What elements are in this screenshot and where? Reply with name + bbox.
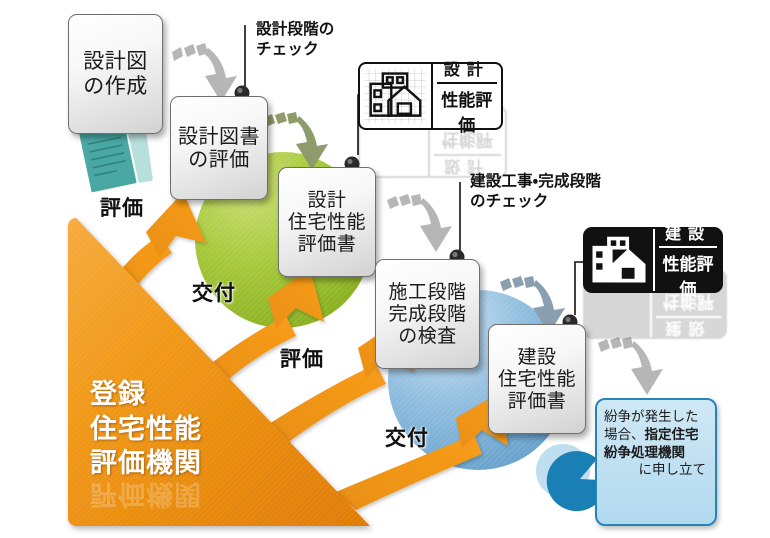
dispute-line-2-plain: 場合、	[604, 427, 645, 443]
arrow-label-issue-1: 交付	[192, 277, 236, 307]
process-box-label: 設計図 の作成	[83, 49, 148, 98]
process-box-design-cert[interactable]: 設計 住宅性能 評価書	[278, 167, 376, 277]
process-box-label: 施工段階 完成段階 の検査	[388, 281, 466, 348]
badge-top-label: 設計	[437, 56, 498, 84]
dispute-line-1: 紛争が発生した	[604, 409, 699, 425]
blueprint-house-icon	[360, 64, 431, 128]
triangle-label-registered-agency: 登録 住宅性能 評価機関	[90, 378, 202, 482]
arrow-label-issue-2: 交付	[385, 422, 429, 452]
process-box-design-drawing[interactable]: 設計図 の作成	[68, 14, 163, 134]
badge-top-label: 建設	[659, 220, 717, 248]
dispute-line-4: に申し立て	[604, 462, 708, 480]
building-house-icon	[585, 229, 653, 291]
badge-bottom-label: 性能評価	[659, 248, 717, 300]
badge-construction-performance: 建設 性能評価	[583, 227, 723, 293]
process-box-label: 設計図書 の評価	[178, 125, 260, 172]
dispute-resolution-box[interactable]: 紛争が発生した 場合、指定住宅 紛争処理機関 に申し立て	[595, 398, 717, 526]
badge-bottom-label: 性能評価	[437, 84, 498, 136]
arrow-label-eval-1: 評価	[100, 192, 144, 222]
process-box-label: 建設 住宅性能 評価書	[498, 346, 576, 413]
dispute-line-2-strong: 指定住宅	[645, 427, 699, 443]
process-box-design-doc-eval[interactable]: 設計図書 の評価	[170, 96, 268, 200]
process-box-construction-inspection[interactable]: 施工段階 完成段階 の検査	[375, 259, 480, 369]
badge-design-performance: 設計 性能評価	[358, 62, 503, 130]
triangle-label-reflection: 評価機関	[90, 470, 202, 510]
dispute-line-3-strong: 紛争処理機関	[604, 445, 685, 461]
callout-design-stage-check: 設計段階の チェック	[256, 20, 335, 60]
diagram-canvas: 設計図 の作成 設計図書 の評価 設計 住宅性能 評価書 施工段階 完成段階 の…	[0, 0, 770, 538]
arrow-label-eval-2: 評価	[280, 343, 324, 373]
process-box-label: 設計 住宅性能 評価書	[288, 189, 366, 256]
callout-construction-stage-check: 建設工事・完成段階 のチェック	[470, 172, 601, 212]
process-box-construction-cert[interactable]: 建設 住宅性能 評価書	[488, 324, 586, 434]
